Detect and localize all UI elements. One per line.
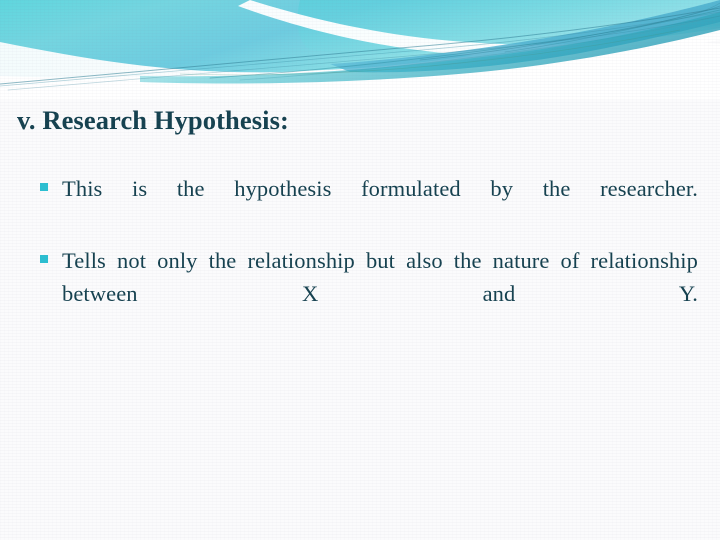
- header-wave-svg: [0, 0, 720, 100]
- bullet-square-icon: [40, 183, 48, 191]
- bullet-item: Tells not only the relationship but also…: [38, 244, 698, 343]
- bullet-text: This is the hypothesis formulated by the…: [62, 172, 698, 238]
- slide-title: v. Research Hypothesis:: [17, 104, 289, 137]
- bullet-square-icon: [40, 255, 48, 263]
- header-wave-banner: [0, 0, 720, 100]
- bullet-item: This is the hypothesis formulated by the…: [38, 172, 698, 238]
- presentation-slide: v. Research Hypothesis: This is the hypo…: [0, 0, 720, 540]
- slide-body: This is the hypothesis formulated by the…: [38, 172, 698, 349]
- bullet-text: Tells not only the relationship but also…: [62, 244, 698, 343]
